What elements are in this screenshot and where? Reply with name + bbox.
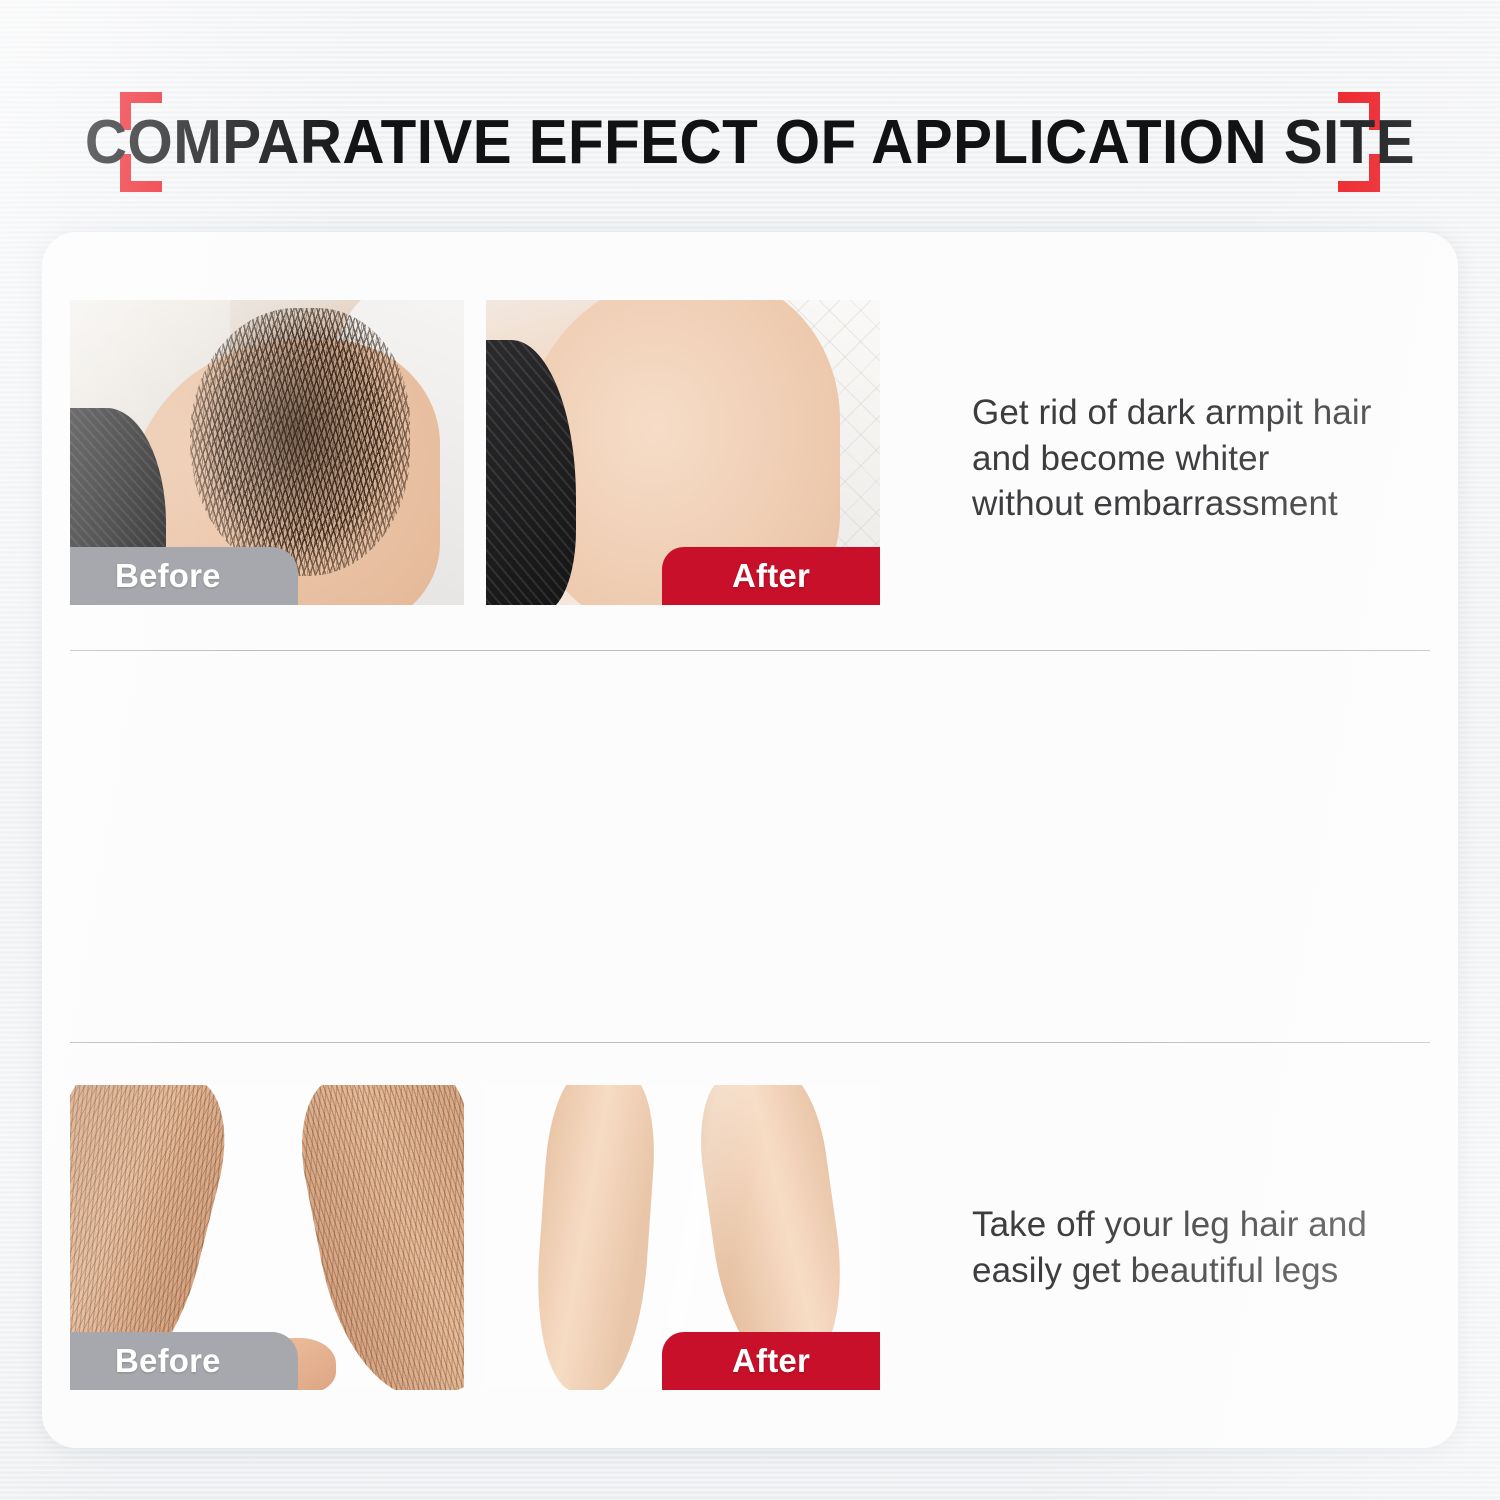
legs-caption: Take off your leg hair and easily get be… (972, 1202, 1442, 1293)
header-banner: COMPARATIVE EFFECT OF APPLICATION SITE (0, 86, 1500, 198)
caption-line: easily get beautiful legs (972, 1248, 1442, 1294)
armpit-caption: Get rid of dark armpit hair and become w… (972, 390, 1442, 527)
armpit-hair-shape (190, 308, 410, 576)
comparison-card: Before After Get rid of dark armpit hair… (42, 232, 1458, 1448)
after-badge: After (662, 1332, 880, 1390)
before-badge: Before (70, 547, 298, 605)
infographic-page: COMPARATIVE EFFECT OF APPLICATION SITE B… (0, 0, 1500, 1500)
row-divider-2 (70, 1042, 1430, 1043)
caption-line: Get rid of dark armpit hair (972, 390, 1442, 436)
legs-after-panel: After (486, 1085, 880, 1390)
armpit-before-panel: Before (70, 300, 464, 605)
caption-line: Take off your leg hair and (972, 1202, 1442, 1248)
after-badge: After (662, 547, 880, 605)
caption-line: without embarrassment (972, 481, 1442, 527)
page-title: COMPARATIVE EFFECT OF APPLICATION SITE (45, 86, 1455, 198)
before-badge: Before (70, 1332, 298, 1390)
legs-before-panel: Before (70, 1085, 464, 1390)
armpit-after-panel: After (486, 300, 880, 605)
caption-line: and become whiter (972, 436, 1442, 482)
row-divider-1 (70, 650, 1430, 651)
